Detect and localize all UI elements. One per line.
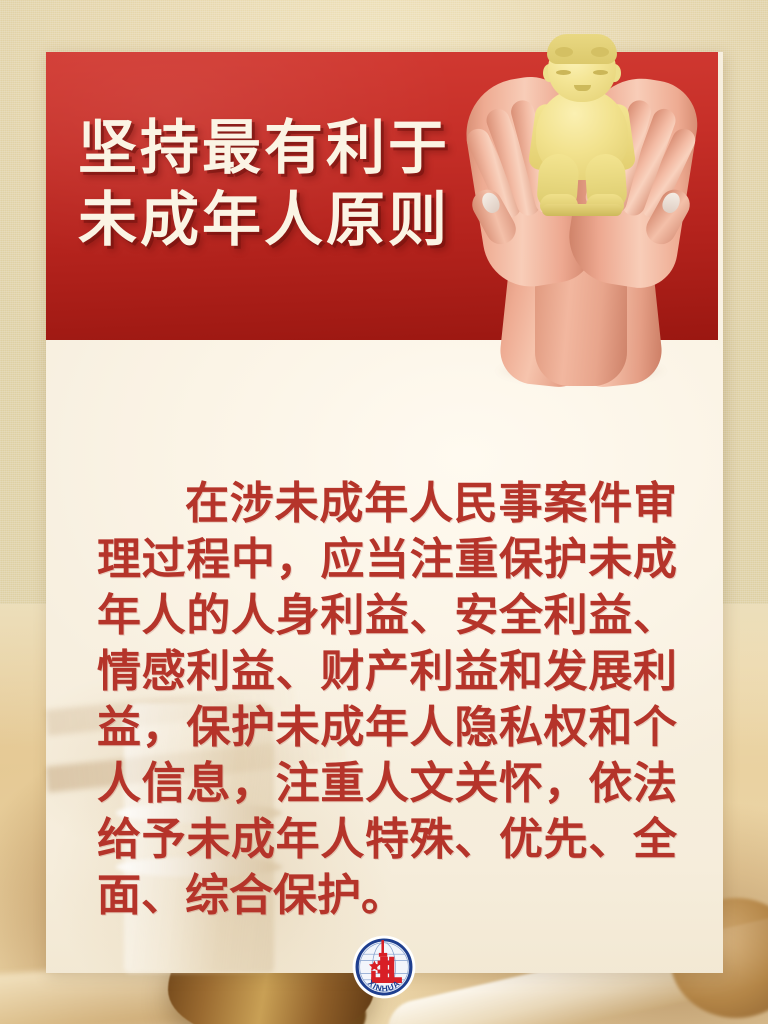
xinhua-news-agency-logo: XINHUA <box>352 935 416 999</box>
page-title: 坚持最有利于 未成年人原则 <box>78 112 450 256</box>
poster-root: 坚持最有利于 未成年人原则 <box>0 0 768 1024</box>
title-line-2: 未成年人原则 <box>78 184 450 256</box>
baby-right-eye <box>593 70 608 75</box>
body-paragraph: 在涉未成年人民事案件审理过程中，应当注重保护未成年人的人身利益、安全利益、情感利… <box>97 476 677 924</box>
hands-holding-baby-sculpture <box>472 34 690 386</box>
baby-left-eye <box>556 70 571 75</box>
baby-hair <box>547 34 617 64</box>
title-line-1: 坚持最有利于 <box>78 112 450 184</box>
baby-pedestal <box>542 204 622 216</box>
baby-figure <box>528 36 636 214</box>
